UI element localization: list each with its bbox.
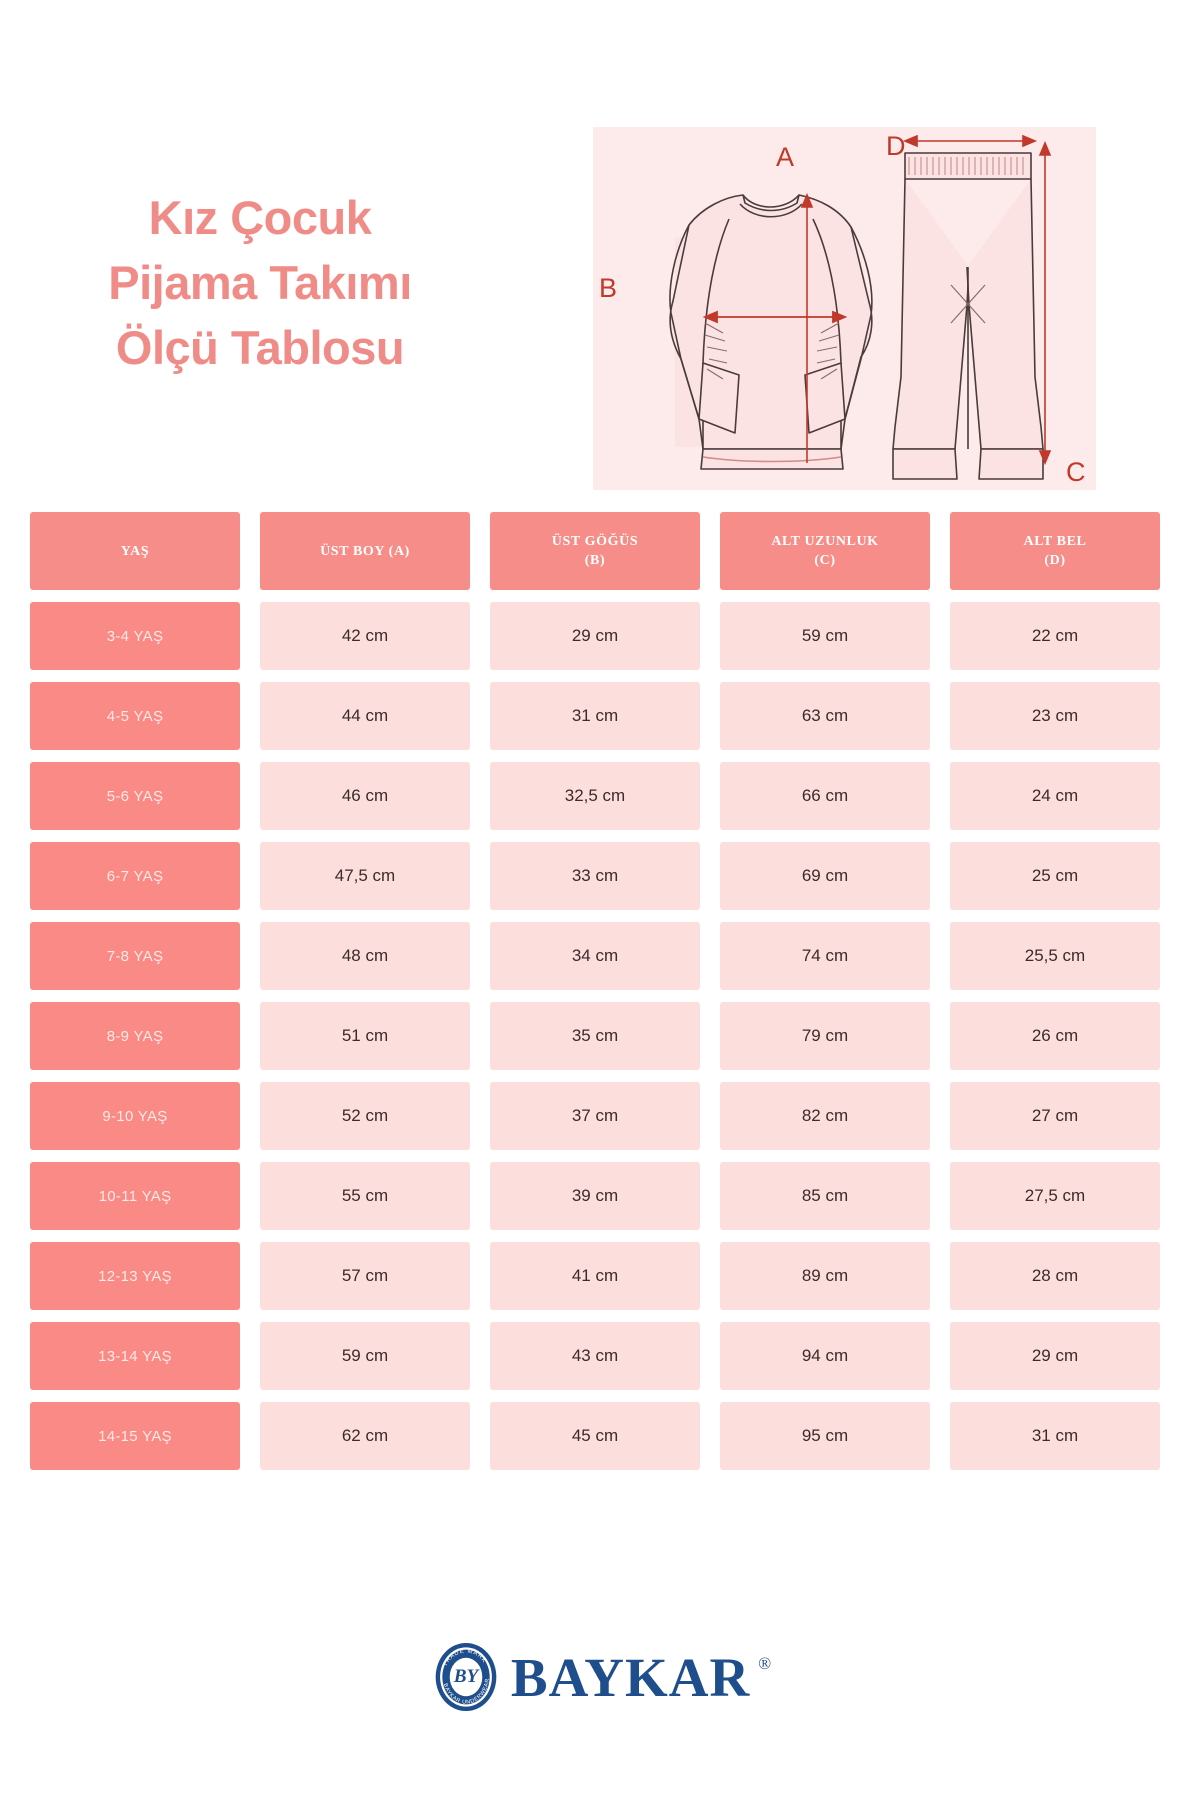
ust-gogus-cell: 41 cm: [490, 1242, 700, 1310]
alt-bel-cell: 27,5 cm: [950, 1162, 1160, 1230]
table-row: 6-7 YAŞ47,5 cm33 cm69 cm25 cm: [30, 842, 1170, 910]
age-cell: 12-13 YAŞ: [30, 1242, 240, 1310]
age-cell: 6-7 YAŞ: [30, 842, 240, 910]
alt-uzunluk-cell: 66 cm: [720, 762, 930, 830]
ust-boy-cell: 57 cm: [260, 1242, 470, 1310]
pants-illustration: [893, 153, 1043, 479]
column-header-ust-gogus-label: ÜST GÖĞÜS: [552, 532, 638, 551]
ust-gogus-cell: 31 cm: [490, 682, 700, 750]
column-header-ust-gogus-code: (B): [552, 551, 638, 570]
ust-boy-cell: 46 cm: [260, 762, 470, 830]
ust-gogus-cell: 29 cm: [490, 602, 700, 670]
alt-uzunluk-cell: 95 cm: [720, 1402, 930, 1470]
column-header-alt-bel-code: (D): [1024, 551, 1087, 570]
marker-label-a: A: [776, 142, 794, 173]
marker-label-b: B: [599, 273, 617, 304]
ust-gogus-cell: 32,5 cm: [490, 762, 700, 830]
age-cell: 5-6 YAŞ: [30, 762, 240, 830]
page-title: Kız Çocuk Pijama Takımı Ölçü Tablosu: [0, 185, 520, 380]
age-cell: 4-5 YAŞ: [30, 682, 240, 750]
trade-mark-seal-icon: BY TRADE MARK BAYKAR UNDERWEAR: [429, 1640, 503, 1714]
ust-gogus-cell: 33 cm: [490, 842, 700, 910]
measure-line-c: [1040, 143, 1050, 463]
age-cell: 8-9 YAŞ: [30, 1002, 240, 1070]
table-row: 5-6 YAŞ46 cm32,5 cm66 cm24 cm: [30, 762, 1170, 830]
age-cell: 9-10 YAŞ: [30, 1082, 240, 1150]
column-header-ust-boy-label: ÜST BOY (A): [320, 542, 410, 561]
ust-boy-cell: 47,5 cm: [260, 842, 470, 910]
ust-boy-cell: 52 cm: [260, 1082, 470, 1150]
alt-bel-cell: 22 cm: [950, 602, 1160, 670]
ust-boy-cell: 59 cm: [260, 1322, 470, 1390]
table-row: 9-10 YAŞ52 cm37 cm82 cm27 cm: [30, 1082, 1170, 1150]
ust-gogus-cell: 43 cm: [490, 1322, 700, 1390]
alt-bel-cell: 27 cm: [950, 1082, 1160, 1150]
column-header-alt-bel: ALT BEL (D): [950, 512, 1160, 590]
ust-gogus-cell: 39 cm: [490, 1162, 700, 1230]
alt-bel-cell: 25 cm: [950, 842, 1160, 910]
ust-boy-cell: 55 cm: [260, 1162, 470, 1230]
brand-wordmark: BAYKAR: [511, 1650, 750, 1705]
alt-bel-cell: 24 cm: [950, 762, 1160, 830]
alt-uzunluk-cell: 69 cm: [720, 842, 930, 910]
column-header-alt-uzunluk-label: ALT UZUNLUK: [771, 532, 878, 551]
svg-text:BY: BY: [453, 1666, 481, 1687]
alt-uzunluk-cell: 63 cm: [720, 682, 930, 750]
ust-gogus-cell: 34 cm: [490, 922, 700, 990]
table-row: 8-9 YAŞ51 cm35 cm79 cm26 cm: [30, 1002, 1170, 1070]
garment-diagram-svg: [593, 127, 1096, 490]
ust-gogus-cell: 35 cm: [490, 1002, 700, 1070]
age-cell: 10-11 YAŞ: [30, 1162, 240, 1230]
table-row: 14-15 YAŞ62 cm45 cm95 cm31 cm: [30, 1402, 1170, 1470]
ust-boy-cell: 44 cm: [260, 682, 470, 750]
table-body: 3-4 YAŞ42 cm29 cm59 cm22 cm4-5 YAŞ44 cm3…: [30, 602, 1170, 1470]
table-row: 10-11 YAŞ55 cm39 cm85 cm27,5 cm: [30, 1162, 1170, 1230]
table-row: 13-14 YAŞ59 cm43 cm94 cm29 cm: [30, 1322, 1170, 1390]
alt-uzunluk-cell: 82 cm: [720, 1082, 930, 1150]
brand-logo: BY TRADE MARK BAYKAR UNDERWEAR BAYKAR ®: [0, 1640, 1200, 1714]
garment-illustration-panel: A B C D: [593, 127, 1096, 490]
ust-boy-cell: 42 cm: [260, 602, 470, 670]
column-header-ust-boy: ÜST BOY (A): [260, 512, 470, 590]
alt-uzunluk-cell: 89 cm: [720, 1242, 930, 1310]
ust-boy-cell: 48 cm: [260, 922, 470, 990]
age-cell: 3-4 YAŞ: [30, 602, 240, 670]
table-row: 4-5 YAŞ44 cm31 cm63 cm23 cm: [30, 682, 1170, 750]
title-line-1: Kız Çocuk: [0, 185, 520, 250]
ust-gogus-cell: 45 cm: [490, 1402, 700, 1470]
age-cell: 14-15 YAŞ: [30, 1402, 240, 1470]
table-row: 12-13 YAŞ57 cm41 cm89 cm28 cm: [30, 1242, 1170, 1310]
alt-uzunluk-cell: 74 cm: [720, 922, 930, 990]
measure-line-d: [905, 136, 1035, 146]
ust-boy-cell: 62 cm: [260, 1402, 470, 1470]
alt-bel-cell: 25,5 cm: [950, 922, 1160, 990]
alt-bel-cell: 28 cm: [950, 1242, 1160, 1310]
age-cell: 13-14 YAŞ: [30, 1322, 240, 1390]
alt-uzunluk-cell: 79 cm: [720, 1002, 930, 1070]
alt-uzunluk-cell: 94 cm: [720, 1322, 930, 1390]
alt-bel-cell: 29 cm: [950, 1322, 1160, 1390]
alt-bel-cell: 23 cm: [950, 682, 1160, 750]
alt-uzunluk-cell: 85 cm: [720, 1162, 930, 1230]
column-header-alt-uzunluk: ALT UZUNLUK (C): [720, 512, 930, 590]
title-line-2: Pijama Takımı: [0, 250, 520, 315]
alt-uzunluk-cell: 59 cm: [720, 602, 930, 670]
registered-mark: ®: [758, 1654, 771, 1674]
age-cell: 7-8 YAŞ: [30, 922, 240, 990]
marker-label-d: D: [886, 131, 906, 162]
column-header-age: YAŞ: [30, 512, 240, 590]
ust-boy-cell: 51 cm: [260, 1002, 470, 1070]
sweater-illustration: [670, 195, 872, 469]
title-line-3: Ölçü Tablosu: [0, 315, 520, 380]
ust-gogus-cell: 37 cm: [490, 1082, 700, 1150]
table-row: 3-4 YAŞ42 cm29 cm59 cm22 cm: [30, 602, 1170, 670]
alt-bel-cell: 31 cm: [950, 1402, 1160, 1470]
alt-bel-cell: 26 cm: [950, 1002, 1160, 1070]
table-row: 7-8 YAŞ48 cm34 cm74 cm25,5 cm: [30, 922, 1170, 990]
table-header-row: YAŞ ÜST BOY (A) ÜST GÖĞÜS (B) ALT UZUNLU…: [30, 512, 1170, 590]
column-header-age-label: YAŞ: [121, 542, 150, 561]
column-header-alt-uzunluk-code: (C): [771, 551, 878, 570]
header-area: Kız Çocuk Pijama Takımı Ölçü Tablosu: [0, 0, 1200, 490]
column-header-alt-bel-label: ALT BEL: [1024, 532, 1087, 551]
marker-label-c: C: [1066, 457, 1086, 488]
size-table: YAŞ ÜST BOY (A) ÜST GÖĞÜS (B) ALT UZUNLU…: [30, 512, 1170, 1482]
column-header-ust-gogus: ÜST GÖĞÜS (B): [490, 512, 700, 590]
